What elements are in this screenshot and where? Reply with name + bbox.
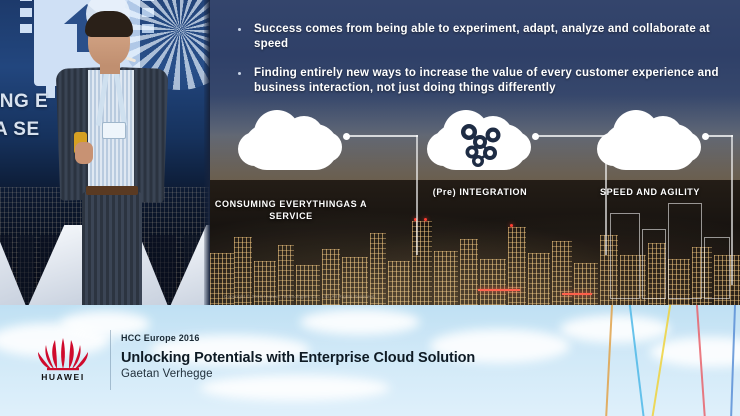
pillar-label: (Pre) INTEGRATION [395, 186, 565, 198]
session-title: Unlocking Potentials with Enterprise Clo… [121, 350, 475, 366]
event-name: HCC Europe 2016 [121, 333, 475, 343]
pillar-speed-and-agility: SPEED AND AGILITY [595, 110, 705, 172]
head-gears-icon [622, 118, 678, 170]
speaker-badge [102, 122, 126, 139]
huawei-flower-icon [25, 336, 101, 372]
pillar-label: CONSUMING EVERYTHINGAS A SERVICE [210, 186, 376, 222]
speaker-person [52, 14, 168, 305]
video-frame: ING E A SE [0, 0, 740, 416]
pillar-consuming-everything-as-a-service: CONSUMING EVERYTHINGAS A SERVICE [236, 110, 346, 172]
speaker-name: Gaetan Verhegge [121, 368, 475, 380]
stage-video-panel: ING E A SE [0, 0, 210, 305]
banner-text-block: HCC Europe 2016 Unlocking Potentials wit… [121, 333, 475, 380]
cloud-shape [595, 110, 705, 172]
presentation-slide: Success comes from being able to experim… [210, 0, 740, 305]
stage-screen-text: ING E A SE [0, 88, 48, 144]
chip-house-icon [263, 118, 319, 170]
huawei-wordmark: HUAWEI [25, 372, 101, 382]
pillar-group: CONSUMING EVERYTHINGAS A SERVICE [210, 0, 740, 305]
pillar-pre-integration: (Pre) INTEGRATION [425, 110, 535, 172]
network-nodes-icon [452, 118, 508, 170]
pillar-label: SPEED AND AGILITY [565, 186, 735, 198]
microphone-icon [126, 57, 136, 63]
cloud-shape [425, 110, 535, 172]
banner-separator [110, 330, 111, 390]
huawei-logo: HUAWEI [25, 336, 101, 386]
cloud-shape [236, 110, 346, 172]
